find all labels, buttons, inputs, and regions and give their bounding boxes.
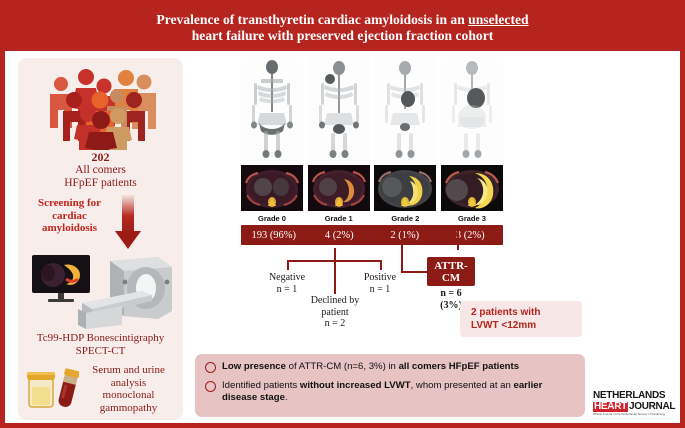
- bone-scintigraphy-whole-body-image: [308, 57, 370, 161]
- infographic-page: Prevalence of transthyretin cardiac amyl…: [0, 0, 685, 428]
- flow-connector: [401, 260, 403, 272]
- attr-cm-line-1: ATTR-: [434, 260, 467, 272]
- conclusion-1-text-1: of ATTR-CM (n=6, 3%) in: [286, 361, 399, 372]
- title-line-1: Prevalence of transthyretin cardiac amyl…: [156, 12, 528, 28]
- screening-step: Screening for cardiac amyloidosis: [26, 195, 176, 253]
- methods-sidebar: 202 All comers HFpEF patients Screening …: [18, 58, 183, 420]
- lab-line-3: monoclonal: [79, 389, 178, 402]
- grade-label: Grade 3: [441, 214, 503, 223]
- flow-connector: [401, 230, 403, 260]
- attr-cm-count: n = 6: [427, 288, 475, 300]
- cohort-count: 202: [92, 151, 110, 164]
- conclusion-2-period: .: [285, 392, 288, 403]
- screening-label-line-2: cardiac: [26, 210, 114, 223]
- grade-label: Grade 1: [308, 214, 370, 223]
- circle-outline-bullet-icon: [205, 381, 216, 392]
- bone-scintigraphy-whole-body-image: [241, 57, 303, 161]
- positive-count: n = 1: [349, 284, 411, 296]
- netherlands-heart-journal-logo: NETHERLANDS HEART JOURNAL Official Journ…: [593, 391, 678, 416]
- conclusion-item: Low presence of ATTR-CM (n=6, 3%) in all…: [205, 361, 575, 374]
- lab-analysis-step: Serum and urine analysis monoclonal gamm…: [23, 363, 178, 415]
- logo-heart-word: HEART: [593, 402, 628, 413]
- lvwt-line-1: 2 patients with: [471, 306, 582, 319]
- flow-connector: [457, 230, 459, 250]
- lab-line-4: gammopathy: [79, 402, 178, 415]
- arrow-down-icon: [110, 195, 146, 251]
- whole-body-scan-row: [241, 57, 503, 161]
- negative-count: n = 1: [257, 284, 317, 296]
- conclusion-2-text-1: Identified patients: [222, 380, 300, 391]
- grade-label: Grade 0: [241, 214, 303, 223]
- grade-count: 193 (96%): [241, 230, 307, 241]
- negative-label: Negative: [257, 272, 317, 284]
- modality-label: Tc99-HDP Bonescintigraphy SPECT-CT: [37, 332, 164, 357]
- lab-line-1: Serum and urine: [79, 364, 178, 377]
- logo-tagline: Official Journal of the Netherlands Soci…: [593, 413, 678, 416]
- spect-ct-axial-slice-image: [241, 165, 303, 211]
- spect-ct-scanner-icon: [26, 251, 176, 331]
- lab-line-2: analysis: [79, 377, 178, 390]
- lab-label: Serum and urine analysis monoclonal gamm…: [79, 364, 178, 414]
- grade-count-bar: 193 (96%) 4 (2%) 2 (1%) 3 (2%): [241, 225, 503, 245]
- conclusions-panel: Low presence of ATTR-CM (n=6, 3%) in all…: [195, 354, 585, 417]
- positive-label: Positive: [349, 272, 411, 284]
- conclusion-item: Identified patients without increased LV…: [205, 380, 575, 405]
- spect-ct-axial-slice-image: [308, 165, 370, 211]
- grade-label-row: Grade 0 Grade 1 Grade 2 Grade 3: [241, 214, 503, 223]
- bone-scintigraphy-whole-body-image: [441, 57, 503, 161]
- screening-label-line-3: amyloidosis: [26, 222, 114, 235]
- cohort-label-line-2: HFpEF patients: [64, 177, 137, 190]
- lvwt-callout: 2 patients with LVWT <12mm: [460, 301, 582, 337]
- grade-count: 2 (1%): [372, 230, 438, 241]
- logo-line-netherlands: NETHERLANDS: [593, 391, 678, 402]
- spect-ct-axial-slice-image: [374, 165, 436, 211]
- conclusion-1-bold-1: Low presence: [222, 361, 286, 372]
- conclusion-text: Low presence of ATTR-CM (n=6, 3%) in all…: [222, 361, 519, 374]
- urine-cup-and-blood-tube-icon: [23, 363, 79, 415]
- title-line-2: heart failure with preserved ejection fr…: [192, 28, 494, 44]
- title-underlined-word: unselected: [468, 12, 528, 27]
- attr-cm-line-2: CM: [442, 272, 460, 284]
- conclusion-2-text-2: , whom presented at an: [411, 380, 514, 391]
- attr-cm-box: ATTR- CM: [427, 257, 475, 286]
- flow-node-negative: Negative n = 1: [257, 272, 317, 295]
- cohort-label: All comers HFpEF patients: [64, 164, 137, 190]
- cohort-label-line-1: All comers: [64, 164, 137, 177]
- screening-label-line-1: Screening for: [26, 197, 114, 210]
- scan-panel: Grade 0 Grade 1 Grade 2 Grade 3 193 (96%…: [241, 57, 503, 245]
- flow-connector: [287, 260, 289, 270]
- bone-scintigraphy-whole-body-image: [374, 57, 436, 161]
- declined-label-line-1: Declined by: [298, 295, 372, 307]
- page-title: Prevalence of transthyretin cardiac amyl…: [5, 5, 680, 51]
- declined-count: n = 2: [298, 318, 372, 330]
- flow-connector: [380, 260, 382, 270]
- flow-connector: [334, 260, 336, 294]
- modality-line-1: Tc99-HDP Bonescintigraphy: [37, 332, 164, 345]
- circle-outline-bullet-icon: [205, 362, 216, 373]
- conclusion-2-bold-1: without increased LVWT: [300, 380, 411, 391]
- logo-line-heart-journal: HEART JOURNAL: [593, 402, 678, 413]
- flow-node-declined: Declined by patient n = 2: [298, 295, 372, 330]
- people-group-icon: [26, 62, 176, 150]
- conclusion-1-bold-2: all comers HFpEF patients: [399, 361, 519, 372]
- screening-label: Screening for cardiac amyloidosis: [26, 197, 114, 235]
- flow-node-positive: Positive n = 1: [349, 272, 411, 295]
- logo-journal-word: JOURNAL: [629, 402, 675, 413]
- grade-label: Grade 2: [374, 214, 436, 223]
- conclusion-text: Identified patients without increased LV…: [222, 380, 575, 405]
- modality-line-2: SPECT-CT: [37, 345, 164, 358]
- declined-label-line-2: patient: [298, 307, 372, 319]
- spect-slice-row: [241, 165, 503, 211]
- grade-count: 4 (2%): [307, 230, 373, 241]
- spect-ct-axial-slice-image: [441, 165, 503, 211]
- lvwt-line-2: LVWT <12mm: [471, 319, 582, 332]
- grade-count: 3 (2%): [438, 230, 504, 241]
- title-text-before: Prevalence of transthyretin cardiac amyl…: [156, 12, 468, 27]
